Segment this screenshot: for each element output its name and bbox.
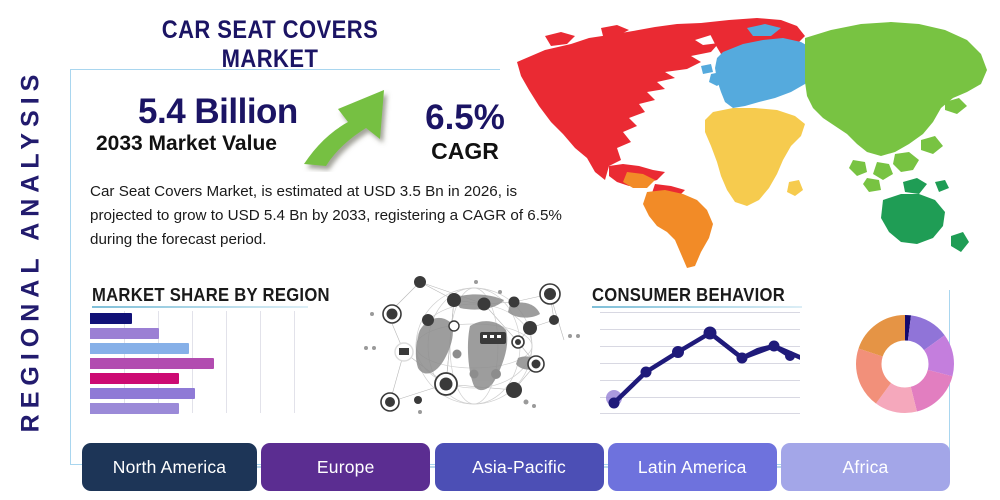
region-button-north-america[interactable]: North America xyxy=(82,443,257,491)
region-button-africa[interactable]: Africa xyxy=(781,443,950,491)
network-node-icon xyxy=(381,393,399,411)
data-point xyxy=(704,327,717,340)
network-node-icon xyxy=(512,336,524,348)
region-button-label: Africa xyxy=(843,457,889,478)
data-point xyxy=(737,353,748,364)
table-row xyxy=(90,313,132,324)
page-title: CAR SEAT COVERS MARKET xyxy=(138,16,402,74)
market-share-bar-chart xyxy=(90,311,330,413)
network-node-icon xyxy=(414,396,422,404)
data-point xyxy=(672,346,684,358)
table-row xyxy=(90,373,179,384)
regional-distribution-donut-chart xyxy=(856,315,954,413)
network-node-icon xyxy=(470,370,479,379)
map-region-africa xyxy=(705,108,805,206)
bar-gridline xyxy=(226,311,227,413)
network-node-icon xyxy=(435,373,457,395)
global-network-globe-icon xyxy=(358,274,590,420)
server-rack-icon xyxy=(480,332,506,344)
map-region-asia xyxy=(805,22,987,192)
region-button-label: North America xyxy=(113,457,226,478)
table-row xyxy=(90,343,189,354)
cagr-label: CAGR xyxy=(410,138,520,165)
side-label-text: REGIONAL ANALYSIS xyxy=(17,68,46,432)
network-node-icon xyxy=(395,343,413,361)
region-button-latin-america[interactable]: Latin America xyxy=(608,443,777,491)
table-row xyxy=(90,328,159,339)
market-value-label: 2033 Market Value xyxy=(96,132,277,156)
table-row xyxy=(90,358,214,369)
network-node-icon xyxy=(414,276,426,288)
region-connector xyxy=(430,466,434,468)
network-node-icon xyxy=(528,356,544,372)
market-share-section-header: MARKET SHARE BY REGION xyxy=(92,284,330,306)
region-button-europe[interactable]: Europe xyxy=(261,443,430,491)
market-share-underline xyxy=(92,306,308,308)
table-row xyxy=(90,403,179,414)
regional-analysis-side-label: REGIONAL ANALYSIS xyxy=(0,0,62,500)
network-node-icon xyxy=(422,314,434,326)
region-button-asia-pacific[interactable]: Asia-Pacific xyxy=(435,443,604,491)
data-point xyxy=(769,341,780,352)
market-description: Car Seat Covers Market, is estimated at … xyxy=(90,180,582,252)
network-node-icon xyxy=(478,298,491,311)
map-region-oceania xyxy=(881,178,969,252)
network-node-icon xyxy=(540,284,560,304)
cagr-value: 6.5% xyxy=(410,98,520,138)
network-node-icon xyxy=(453,350,462,359)
data-point xyxy=(609,398,620,409)
region-button-label: Asia-Pacific xyxy=(472,457,566,478)
network-node-icon xyxy=(523,321,537,335)
bar-gridline xyxy=(260,311,261,413)
region-button-label: Europe xyxy=(317,457,375,478)
market-value: 5.4 Billion xyxy=(138,92,298,132)
region-legend-bar: North America Europe Asia-Pacific Latin … xyxy=(82,443,950,491)
network-node-icon xyxy=(447,293,461,307)
consumer-behavior-section-header: CONSUMER BEHAVIOR xyxy=(592,284,785,306)
growth-arrow-icon xyxy=(300,84,410,172)
consumer-behavior-line-chart xyxy=(600,310,800,415)
region-button-label: Latin America xyxy=(638,457,747,478)
table-row xyxy=(90,388,195,399)
network-node-icon xyxy=(383,305,401,323)
network-node-icon xyxy=(549,315,559,325)
data-point xyxy=(785,351,795,361)
network-node-icon xyxy=(509,297,520,308)
network-node-icon xyxy=(506,382,522,398)
bar-gridline xyxy=(294,311,295,413)
network-node-icon xyxy=(449,321,459,331)
network-node-icon xyxy=(491,369,501,379)
consumer-behavior-underline xyxy=(592,306,802,308)
data-point xyxy=(641,367,652,378)
